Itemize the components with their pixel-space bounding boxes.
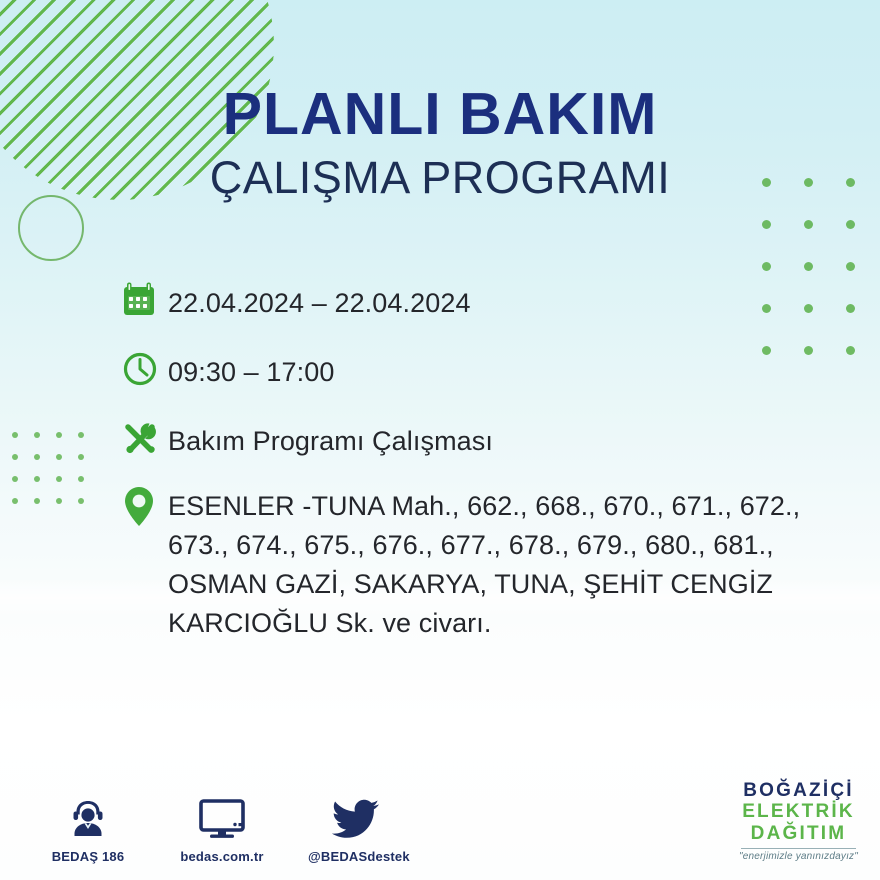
maintenance-details: 22.04.2024 – 22.04.2024 09:30 – 17:00 <box>122 278 862 667</box>
call-center-agent-icon <box>40 793 136 841</box>
footer-contacts: BEDAŞ 186 bedas.com.tr @BEDASdestek <box>40 793 404 864</box>
contact-twitter-label: @BEDASdestek <box>308 849 404 864</box>
brand-tagline: "enerjimizle yanınızdayız" <box>739 851 858 862</box>
twitter-bird-icon <box>308 793 404 841</box>
contact-phone-label: BEDAŞ 186 <box>40 849 136 864</box>
detail-value-worktype: Bakım Programı Çalışması <box>168 416 493 461</box>
address-line: OSMAN GAZİ, SAKARYA, TUNA, ŞEHİT CENGİZ <box>168 565 800 604</box>
clock-icon <box>122 347 168 393</box>
address-line: 673., 674., 675., 676., 677., 678., 679.… <box>168 526 800 565</box>
brand-line-2: ELEKTRİK <box>739 801 858 822</box>
tools-icon <box>122 416 168 462</box>
detail-value-date: 22.04.2024 – 22.04.2024 <box>168 278 471 323</box>
detail-row-address: ESENLER -TUNA Mah., 662., 668., 670., 67… <box>122 485 862 644</box>
brand-line-1: BOĞAZİÇİ <box>739 780 858 801</box>
title-subtitle: ÇALIŞMA PROGRAMI <box>0 153 880 203</box>
brand-line-3: DAĞITIM <box>739 823 858 844</box>
page-title: PLANLI BAKIM ÇALIŞMA PROGRAMI <box>0 84 880 203</box>
detail-row-worktype: Bakım Programı Çalışması <box>122 416 862 462</box>
contact-website[interactable]: bedas.com.tr <box>174 793 270 864</box>
planned-maintenance-poster: PLANLI BAKIM ÇALIŞMA PROGRAMI <box>0 0 880 880</box>
brand-divider <box>741 848 856 849</box>
contact-website-label: bedas.com.tr <box>174 849 270 864</box>
bedas-logo: BOĞAZİÇİ ELEKTRİK DAĞITIM "enerjimizle y… <box>739 780 858 862</box>
address-line: KARCIOĞLU Sk. ve civarı. <box>168 604 800 643</box>
location-pin-icon <box>122 485 168 531</box>
detail-row-time: 09:30 – 17:00 <box>122 347 862 393</box>
detail-row-date: 22.04.2024 – 22.04.2024 <box>122 278 862 324</box>
circle-outline-decoration <box>18 195 84 261</box>
calendar-icon <box>122 278 168 324</box>
dot-grid-left-decoration <box>12 432 100 520</box>
title-main: PLANLI BAKIM <box>0 84 880 145</box>
detail-value-address: ESENLER -TUNA Mah., 662., 668., 670., 67… <box>168 485 800 644</box>
contact-phone[interactable]: BEDAŞ 186 <box>40 793 136 864</box>
address-line: ESENLER -TUNA Mah., 662., 668., 670., 67… <box>168 487 800 526</box>
contact-twitter[interactable]: @BEDASdestek <box>308 793 404 864</box>
detail-value-time: 09:30 – 17:00 <box>168 347 334 392</box>
monitor-icon <box>174 793 270 841</box>
